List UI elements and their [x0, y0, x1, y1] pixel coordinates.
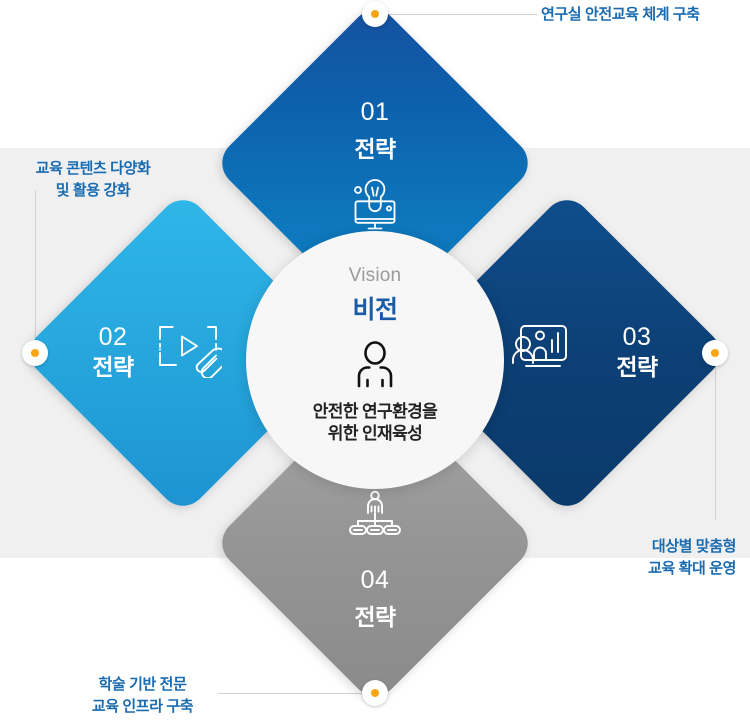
- vision-strategy-diagram: 01 전략 02 전략: [0, 0, 750, 720]
- vision-label-ko: 비전: [352, 290, 397, 326]
- strategy-02-number: 02: [76, 322, 150, 352]
- person-icon: [352, 340, 398, 393]
- connector-line-bottom: [218, 693, 373, 694]
- connector-dot-top[interactable]: [362, 1, 388, 27]
- connector-dot-bottom[interactable]: [362, 680, 388, 706]
- strategy-01-number: 01: [260, 98, 490, 127]
- strategy-04-number: 04: [260, 566, 490, 595]
- strategy-01-label: 전략: [260, 130, 490, 164]
- connector-line-top: [382, 14, 537, 15]
- strategy-03-textblock: 03 전략: [600, 322, 674, 382]
- vision-label-en: Vision: [349, 265, 402, 287]
- monitor-lightbulb-icon: [348, 178, 402, 239]
- connector-line-right: [715, 360, 716, 520]
- strategy-03-number: 03: [600, 322, 674, 352]
- video-attachment-icon: [156, 322, 222, 383]
- strategy-03-label: 전략: [600, 352, 674, 382]
- caption-strategy-01: 연구실 안전교육 체계 구축: [541, 4, 700, 26]
- vision-center-circle[interactable]: Vision 비전 안전한 연구환경을 위한 인재육성: [246, 231, 504, 489]
- connector-line-left: [35, 190, 36, 350]
- vision-description: 안전한 연구환경을 위한 인재육성: [313, 401, 437, 445]
- strategy-02-label: 전략: [76, 352, 150, 382]
- strategy-04-label: 전략: [260, 598, 490, 632]
- caption-strategy-04: 학술 기반 전문 교육 인프라 구축: [80, 674, 205, 718]
- connector-dot-left[interactable]: [22, 340, 48, 366]
- connector-dot-right[interactable]: [702, 340, 728, 366]
- person-chart-icon: [510, 322, 572, 383]
- org-chart-icon: [348, 490, 402, 545]
- caption-strategy-03: 대상별 맞춤형 교육 확대 운영: [618, 536, 736, 580]
- strategy-02-textblock: 02 전략: [76, 322, 150, 382]
- caption-strategy-02: 교육 콘텐츠 다양화 및 활용 강화: [18, 158, 168, 202]
